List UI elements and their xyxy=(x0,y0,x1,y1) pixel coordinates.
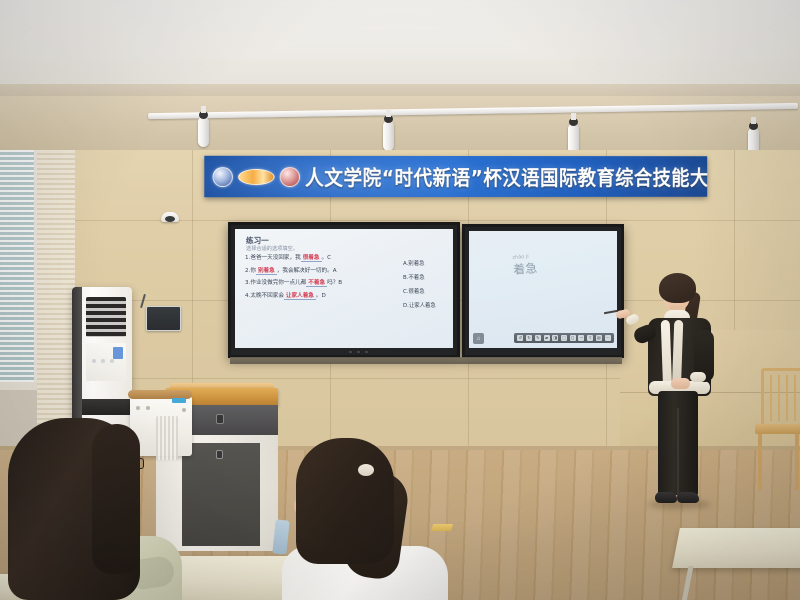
option-item: B.不着急 xyxy=(403,273,436,281)
question-answer-blank: 不着急 xyxy=(306,280,327,287)
event-banner: 人文学院“时代新语”杯汉语国际教育综合技能大赛 xyxy=(204,156,707,197)
college-emblem-icon xyxy=(280,166,300,186)
left-screen-chin xyxy=(231,348,457,355)
shape-icon[interactable]: ◻ xyxy=(570,335,576,341)
highlighter-icon[interactable]: ▰ xyxy=(544,335,550,341)
ribbed-wall-panel xyxy=(37,150,75,450)
wooden-chair[interactable] xyxy=(755,368,800,488)
question-item: 2.你别着急，我会解决好一切的。A xyxy=(245,268,395,274)
track-light xyxy=(383,121,394,151)
question-suffix: 。C xyxy=(322,255,332,261)
presenter-leg-seam xyxy=(677,408,679,496)
right-screen-chin xyxy=(465,348,621,355)
window-blinds[interactable] xyxy=(0,150,34,385)
question-suffix: 。D xyxy=(316,293,326,299)
question-answer-blank: 别着急 xyxy=(256,268,277,275)
presenter-right-cuff xyxy=(690,372,706,382)
lock-icon xyxy=(216,450,223,459)
whiteboard-handwriting: zháo jí 着急 xyxy=(512,254,537,278)
text-icon[interactable]: T xyxy=(587,335,593,341)
window-sill xyxy=(0,382,38,390)
line-icon[interactable]: ─ xyxy=(578,335,584,341)
hair-tie-icon xyxy=(358,464,374,476)
pen-icon[interactable]: ✎ xyxy=(535,335,541,341)
option-item: C.很着急 xyxy=(403,287,436,295)
question-suffix: ，我会解决好一切的。A xyxy=(277,268,337,274)
eraser-icon[interactable]: ◨ xyxy=(552,335,558,341)
option-item: A.别着急 xyxy=(403,259,436,267)
presenter-shoe-right xyxy=(677,492,699,503)
question-prefix: 太晚不回家会 xyxy=(250,293,284,299)
banner-title: 人文学院“时代新语”杯汉语国际教育综合技能大赛 xyxy=(305,162,707,191)
student-right-hair xyxy=(296,438,394,564)
competition-wordmark-icon xyxy=(238,168,275,184)
question-answer-blank: 很着急 xyxy=(301,255,322,262)
right-display-screen[interactable]: zháo jí 着急 ⌂ ↺ ↻ ✎ ▰ ◨ ⬚ ◻ ─ T ▤ ⋯ xyxy=(462,224,624,358)
question-suffix: 吗？B xyxy=(327,280,342,286)
question-answer-blank: 让家人着急 xyxy=(284,293,316,300)
option-list: A.别着急 B.不着急 C.很着急 D.让家人着急 xyxy=(403,259,436,315)
track-light xyxy=(198,117,209,147)
question-item: 1.爸爸一天没回家，我很着急。C xyxy=(245,255,395,261)
whiteboard-canvas[interactable]: zháo jí 着急 ⌂ ↺ ↻ ✎ ▰ ◨ ⬚ ◻ ─ T ▤ ⋯ xyxy=(469,231,617,348)
option-item: D.让家人着急 xyxy=(403,301,436,309)
presenter-teacher xyxy=(640,278,726,522)
student-desk[interactable] xyxy=(672,528,800,568)
window xyxy=(0,150,37,385)
question-prefix: 爸爸一天没回家，我 xyxy=(250,255,300,261)
question-list: 1.爸爸一天没回家，我很着急。C 2.你别着急，我会解决好一切的。A 3.作业没… xyxy=(245,255,395,306)
left-display-screen[interactable]: 练习一 选择合适的选项填空。 1.爸爸一天没回家，我很着急。C 2.你别着急，我… xyxy=(228,222,460,358)
handwriting-pinyin: zháo jí xyxy=(512,254,536,261)
undo-icon[interactable]: ↺ xyxy=(517,335,523,341)
wall-control-panel[interactable] xyxy=(146,306,181,331)
student-right xyxy=(282,438,452,600)
more-icon[interactable]: ⋯ xyxy=(605,335,611,341)
question-item: 4.太晚不回家会让家人着急。D xyxy=(245,293,395,299)
select-icon[interactable]: ⬚ xyxy=(561,335,567,341)
student-left-hair-side xyxy=(92,424,140,574)
cable-tray xyxy=(230,357,622,364)
question-item: 3.作业没做完你一点儿都不着急吗？B xyxy=(245,280,395,286)
ac-grille xyxy=(86,297,126,337)
home-icon[interactable]: ⌂ xyxy=(473,333,484,344)
student-right-device xyxy=(272,519,289,554)
handwriting-text: 着急 xyxy=(513,261,538,277)
exercise-slide: 练习一 选择合适的选项填空。 1.爸爸一天没回家，我很着急。C 2.你别着急，我… xyxy=(235,229,453,348)
chair-backrest xyxy=(761,368,800,430)
presenter-clasped-hands xyxy=(671,378,690,389)
whiteboard-toolbar[interactable]: ↺ ↻ ✎ ▰ ◨ ⬚ ◻ ─ T ▤ ⋯ xyxy=(514,333,614,343)
slide-subtitle: 选择合适的选项填空。 xyxy=(246,245,298,252)
dome-camera-icon xyxy=(161,212,179,222)
lock-icon xyxy=(216,414,224,424)
page-icon[interactable]: ▤ xyxy=(596,335,602,341)
classroom-photo-scene: 人文学院“时代新语”杯汉语国际教育综合技能大赛 练习一 选择合适的选项填空。 1… xyxy=(0,0,800,600)
presenter-shoe-left xyxy=(655,492,677,503)
redo-icon[interactable]: ↻ xyxy=(526,335,532,341)
question-prefix: 作业没做完你一点儿都 xyxy=(250,280,306,286)
chair-seat xyxy=(755,424,800,434)
ac-display xyxy=(113,347,123,359)
ceiling xyxy=(0,0,800,88)
podium-indicator xyxy=(172,398,186,403)
presenter-hair xyxy=(659,273,696,303)
university-emblem-icon xyxy=(212,166,232,186)
student-left xyxy=(8,418,178,600)
